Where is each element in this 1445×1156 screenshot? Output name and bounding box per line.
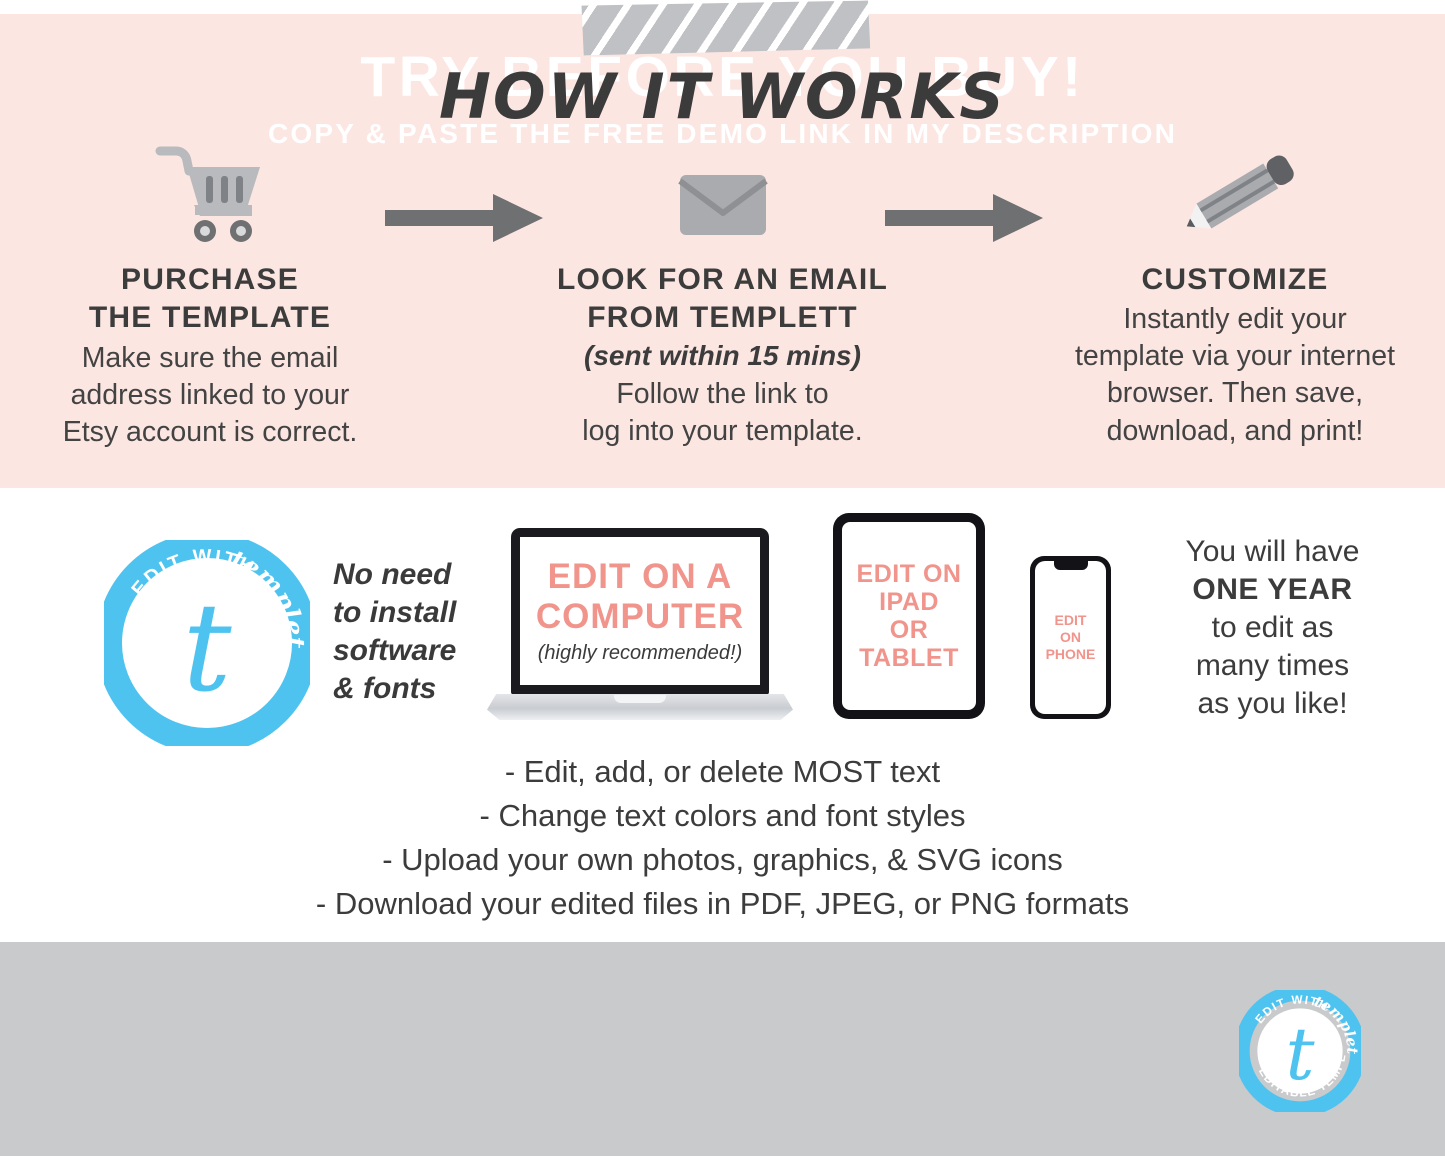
page-title: HOW IT WORKS <box>0 60 1445 133</box>
tablet-line1: EDIT ON <box>857 560 962 588</box>
phone-notch <box>1054 561 1088 570</box>
step-body: Instantly edit your template via your in… <box>1025 301 1445 449</box>
one-year-line1: You will have <box>1185 535 1359 568</box>
washi-tape-icon <box>580 0 871 55</box>
list-item: - Change text colors and font styles <box>0 794 1445 838</box>
one-year-line2: to edit as <box>1212 611 1334 644</box>
no-need-line1: No need <box>333 558 451 591</box>
no-need-line4: & fonts <box>333 672 436 705</box>
tablet-line2: IPAD <box>879 588 939 616</box>
phone-line1: EDIT <box>1055 612 1087 629</box>
feature-bullet-list: - Edit, add, or delete MOST text - Chang… <box>0 750 1445 926</box>
phone-screen: EDIT ON PHONE <box>1035 561 1106 714</box>
laptop-trackpad-notch <box>614 695 666 703</box>
step-customize: CUSTOMIZE Instantly edit your template v… <box>1025 140 1445 450</box>
right-arrow-icon <box>385 192 545 244</box>
pencil-icon <box>1025 140 1445 245</box>
laptop-line2: COMPUTER <box>536 597 744 636</box>
one-year-line3: many times <box>1196 649 1349 682</box>
step-body-line2: address linked to your <box>71 379 350 411</box>
step-title-line1: PURCHASE <box>121 263 299 296</box>
step-body-line1: Make sure the email <box>82 342 339 374</box>
svg-text:t: t <box>1285 1013 1315 1097</box>
phone-line2: ON <box>1060 629 1081 646</box>
laptop-screen: EDIT ON A COMPUTER (highly recommended!) <box>520 537 760 685</box>
steps-row: PURCHASE THE TEMPLATE Make sure the emai… <box>0 140 1445 451</box>
list-item: - Upload your own photos, graphics, & SV… <box>0 838 1445 882</box>
no-need-line3: software <box>333 634 456 667</box>
phone-device: EDIT ON PHONE <box>1030 556 1111 719</box>
right-arrow-icon <box>885 192 1045 244</box>
templett-badge: EDIT WITH templett EDITABLE TEMPLATE t <box>1239 990 1361 1112</box>
envelope-icon <box>513 140 933 245</box>
shopping-cart-icon <box>0 140 420 245</box>
phone-body: EDIT ON PHONE <box>1030 556 1111 719</box>
step-title: LOOK FOR AN EMAIL FROM TEMPLETT <box>513 261 933 338</box>
step-title: PURCHASE THE TEMPLATE <box>0 261 420 338</box>
step-body-line1: Instantly edit your <box>1123 303 1346 335</box>
laptop-note: (highly recommended!) <box>538 642 743 665</box>
tablet-body: EDIT ON IPAD OR TABLET <box>833 513 985 719</box>
one-year-text: You will have ONE YEAR to edit as many t… <box>1125 533 1420 723</box>
tablet-screen: EDIT ON IPAD OR TABLET <box>842 522 976 710</box>
step-body: Follow the link to log into your templat… <box>513 376 933 450</box>
list-item: - Edit, add, or delete MOST text <box>0 750 1445 794</box>
list-item: - Download your edited files in PDF, JPE… <box>0 882 1445 926</box>
one-year-highlight: ONE YEAR <box>1192 573 1352 606</box>
step-body: Make sure the email address linked to yo… <box>0 340 420 451</box>
step-title-line2: FROM TEMPLETT <box>587 301 858 334</box>
laptop-device: EDIT ON A COMPUTER (highly recommended!) <box>487 528 793 728</box>
step-title-line2: THE TEMPLATE <box>89 301 331 334</box>
laptop-lid: EDIT ON A COMPUTER (highly recommended!) <box>511 528 769 695</box>
step-title: CUSTOMIZE <box>1025 261 1445 299</box>
phone-line3: PHONE <box>1046 646 1096 663</box>
step-look-for-email: LOOK FOR AN EMAIL FROM TEMPLETT (sent wi… <box>513 140 933 450</box>
step-purchase: PURCHASE THE TEMPLATE Make sure the emai… <box>0 140 420 451</box>
step-body-line3: browser. Then save, <box>1107 377 1363 409</box>
step-body-line2: log into your template. <box>582 415 862 447</box>
svg-text:t: t <box>182 577 232 719</box>
tablet-line4: TABLET <box>859 644 959 672</box>
step-body-line1: Follow the link to <box>616 378 828 410</box>
tablet-device: EDIT ON IPAD OR TABLET <box>833 513 985 719</box>
templett-badge: EDIT WITH templett EDITABLE TEMPLATE t <box>104 540 310 746</box>
step-note: (sent within 15 mins) <box>513 338 933 374</box>
step-title-line1: CUSTOMIZE <box>1142 263 1329 296</box>
laptop-line1: EDIT ON A <box>548 557 733 596</box>
step-body-line4: download, and print! <box>1107 415 1364 447</box>
footer-banner <box>0 942 1445 1156</box>
one-year-line4: as you like! <box>1197 687 1347 720</box>
tablet-line3: OR <box>890 616 929 644</box>
step-body-line2: template via your internet <box>1075 340 1395 372</box>
no-need-line2: to install <box>333 596 456 629</box>
step-title-line1: LOOK FOR AN EMAIL <box>557 263 888 296</box>
step-body-line3: Etsy account is correct. <box>63 416 358 448</box>
no-need-text: No need to install software & fonts <box>333 556 478 708</box>
infographic-page: HOW IT WORKS <box>0 0 1445 1156</box>
